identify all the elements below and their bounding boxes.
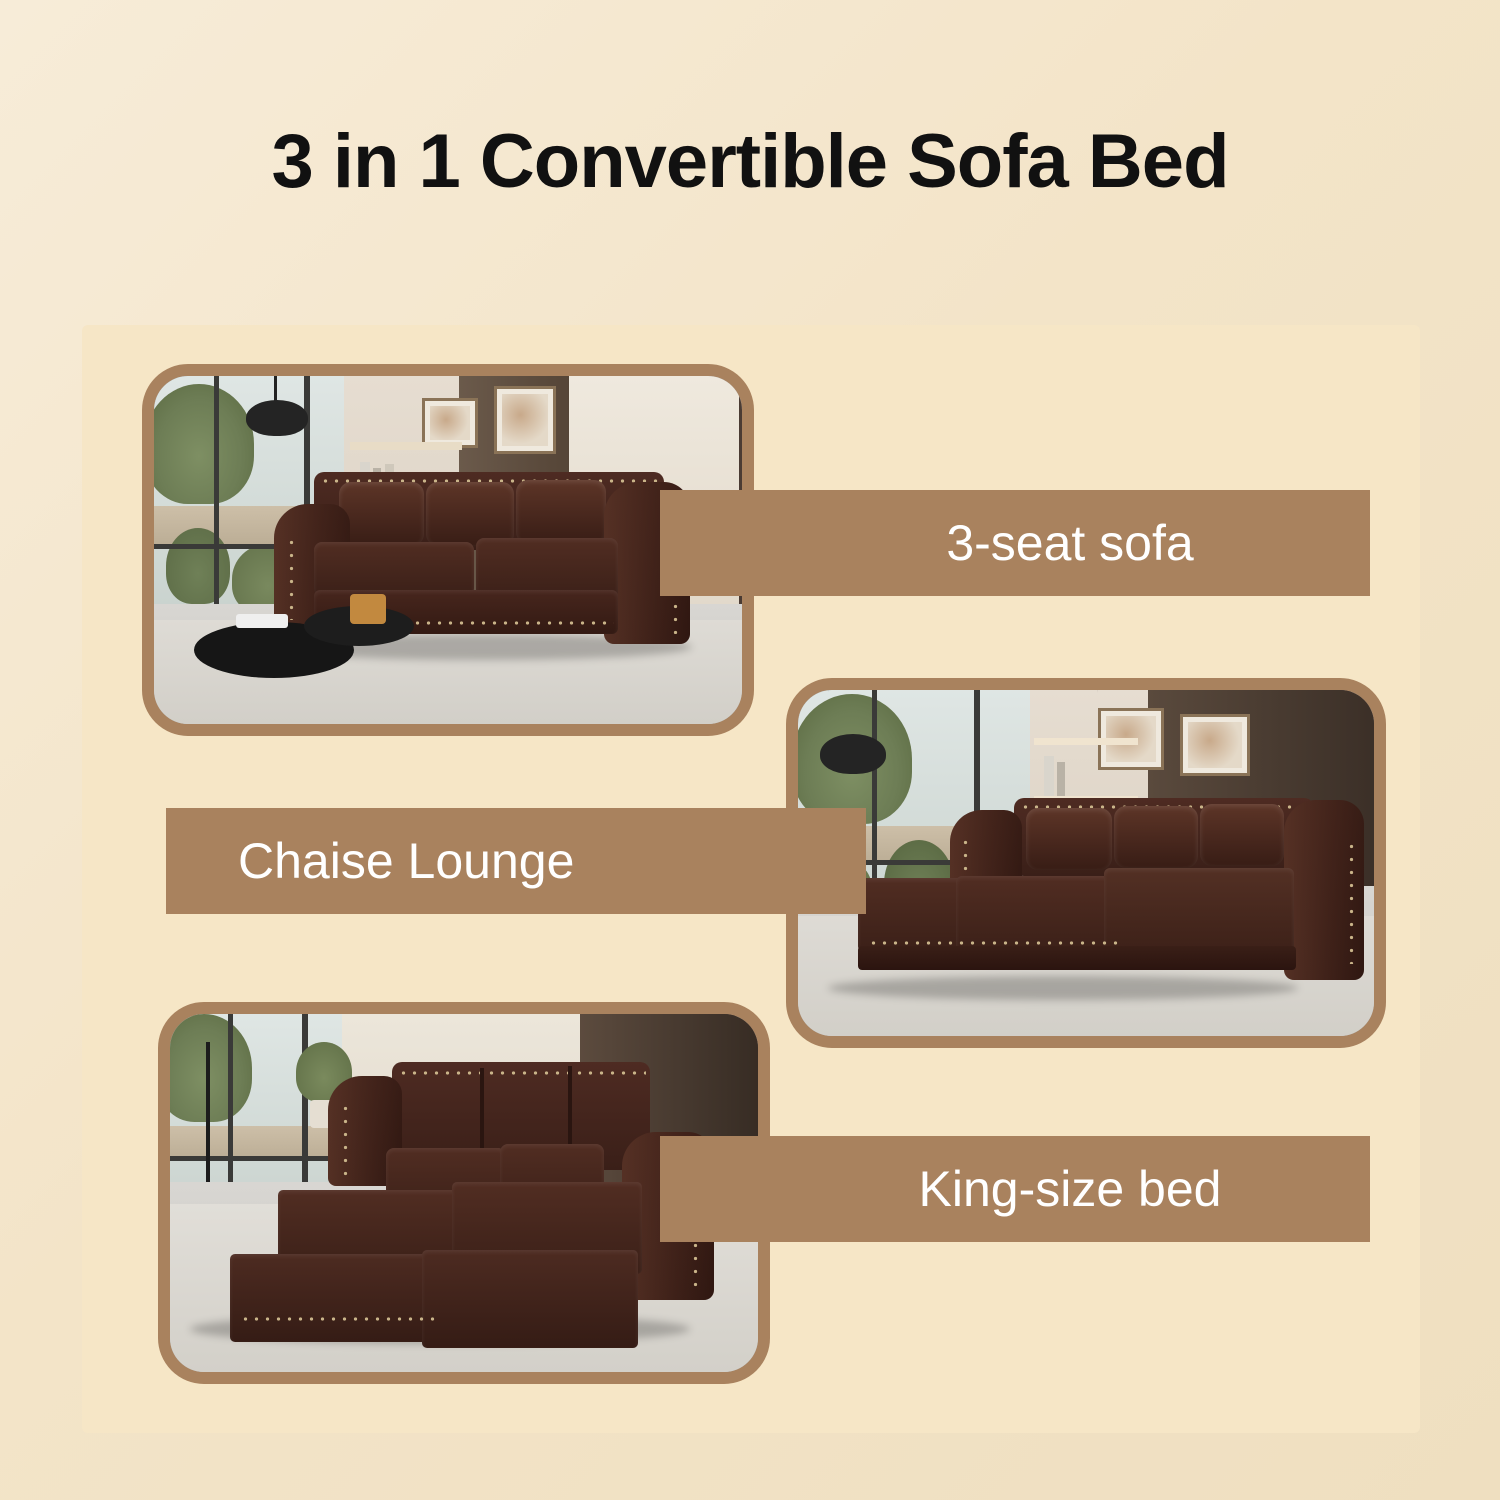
photo-chaise (798, 690, 1374, 1036)
caption-chaise-lounge: Chaise Lounge (166, 808, 866, 914)
caption-chaise-label: Chaise Lounge (238, 832, 574, 890)
tree-foliage (154, 384, 254, 504)
shelf-1 (350, 442, 462, 450)
page-title: 3 in 1 Convertible Sofa Bed (0, 118, 1500, 205)
window-transom (170, 1156, 342, 1161)
wall-art-2 (1180, 714, 1250, 776)
wall-art-2 (494, 386, 556, 454)
chaise-base (858, 946, 1296, 970)
decor-book-2 (1057, 762, 1065, 796)
tree-foliage (170, 1014, 252, 1122)
arc-lamp-shade-icon (820, 734, 886, 774)
pendant-lamp-icon (246, 400, 308, 436)
magazine (236, 614, 288, 628)
back-cushion-1 (339, 482, 424, 546)
wall-art-1 (422, 398, 478, 448)
photo-frame-chaise[interactable] (786, 678, 1386, 1048)
caption-bed-label: King-size bed (919, 1160, 1222, 1218)
back-cushion-2 (426, 482, 514, 546)
caption-sofa-label: 3-seat sofa (946, 514, 1193, 572)
bed-back-nailheads (398, 1068, 646, 1078)
arm-left-nailheads (340, 1102, 350, 1176)
exterior-wall (170, 1126, 342, 1158)
decor-box (350, 594, 386, 624)
caption-king-size-bed: King-size bed (660, 1136, 1370, 1242)
seat-cushion-left (314, 542, 474, 596)
floor-lamp-pole (206, 1042, 210, 1202)
arm-left-nailheads (286, 536, 296, 620)
back-cushion-1 (1026, 808, 1112, 870)
back-cushion-3 (516, 480, 606, 544)
shelf-1 (1034, 738, 1138, 745)
arm-right-nailheads (1346, 840, 1356, 964)
caption-3-seat-sofa: 3-seat sofa (660, 490, 1370, 596)
back-cushion-2 (1114, 806, 1198, 868)
bed-nailheads (240, 1314, 440, 1324)
back-cushion-3 (1200, 804, 1284, 866)
photo-sofa (154, 376, 742, 724)
bed-panel-bottom-right (422, 1250, 638, 1348)
sofa-shadow (828, 976, 1298, 1000)
bed-panel-bottom-left (230, 1254, 430, 1342)
decor-book-1 (1044, 756, 1054, 796)
shrub (166, 528, 230, 604)
product-infographic: 3 in 1 Convertible Sofa Bed (0, 0, 1500, 1500)
